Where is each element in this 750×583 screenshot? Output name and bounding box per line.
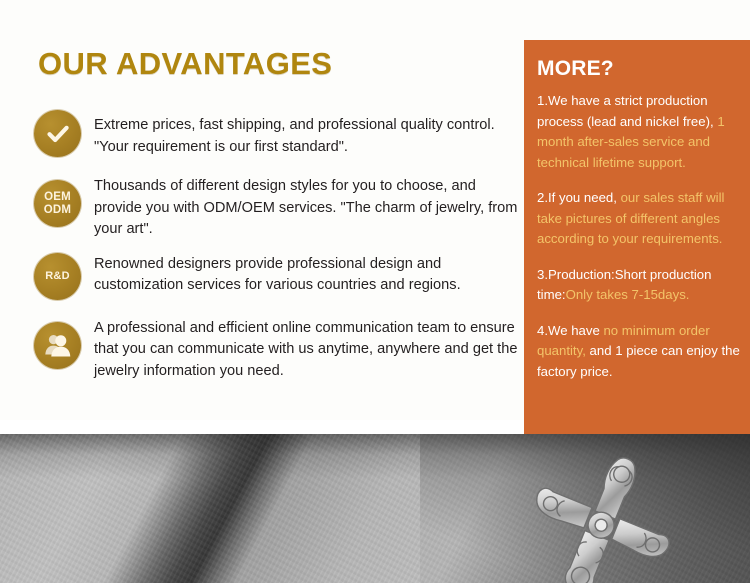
more-item-plain: If you need,	[548, 190, 621, 205]
content-area: OUR ADVANTAGES Extreme prices, fast ship…	[0, 0, 524, 434]
product-photo	[0, 434, 750, 583]
more-panel: MORE? 1.We have a strict production proc…	[524, 40, 750, 437]
more-item-number: 3.	[537, 267, 548, 282]
more-item-number: 2.	[537, 190, 548, 205]
check-circle-icon	[34, 110, 81, 157]
more-item-highlight: Only takes 7-15days.	[566, 287, 690, 302]
rnd-label: R&D	[45, 270, 69, 283]
page-title: OUR ADVANTAGES	[38, 46, 332, 82]
oem-odm-badge-icon: OEM ODM	[34, 180, 81, 227]
odm-label: ODM	[44, 204, 71, 217]
oem-label: OEM	[44, 191, 71, 204]
more-item-plain: We have	[548, 323, 603, 338]
advantage-item-quality: Extreme prices, fast shipping, and profe…	[34, 110, 524, 158]
more-item: 4.We have no minimum order quantity, and…	[537, 321, 742, 383]
more-item-number: 1.	[537, 93, 548, 108]
more-panel-list: 1.We have a strict production process (l…	[537, 91, 742, 397]
advantage-item-rnd: R&D Renowned designers provide professio…	[34, 251, 524, 300]
more-item: 3.Production:Short production time:Only …	[537, 265, 742, 306]
more-item-number: 4.	[537, 323, 548, 338]
team-people-icon	[34, 322, 81, 369]
advantage-text: Thousands of different design styles for…	[81, 174, 524, 241]
rnd-badge-icon: R&D	[34, 253, 81, 300]
content-bottom-spacer	[0, 420, 524, 434]
cross-pendant-icon	[505, 450, 695, 583]
advantage-text: Extreme prices, fast shipping, and profe…	[81, 110, 524, 158]
more-panel-title: MORE?	[537, 57, 614, 81]
advantages-list: Extreme prices, fast shipping, and profe…	[34, 110, 524, 395]
advantage-item-oem-odm: OEM ODM Thousands of different design st…	[34, 174, 524, 241]
advantage-text: A professional and efficient online comm…	[81, 316, 524, 383]
more-item: 1.We have a strict production process (l…	[537, 91, 742, 173]
advantages-banner: OUR ADVANTAGES Extreme prices, fast ship…	[0, 0, 750, 583]
more-item: 2.If you need, our sales staff will take…	[537, 188, 742, 250]
advantage-item-service: A professional and efficient online comm…	[34, 316, 524, 383]
advantage-text: Renowned designers provide professional …	[81, 251, 524, 297]
more-item-plain: We have a strict production process (lea…	[537, 93, 717, 129]
